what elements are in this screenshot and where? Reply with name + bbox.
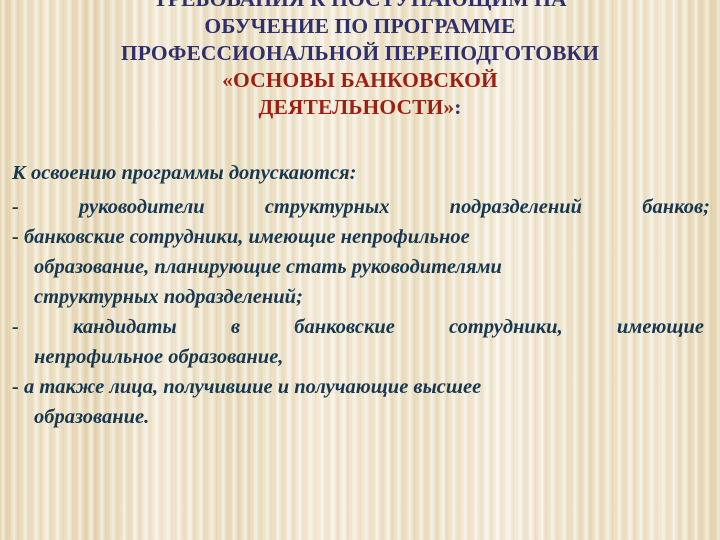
title-accent-line-2-row: ДЕЯТЕЛЬНОСТИ»: bbox=[0, 94, 720, 121]
body-item-2-line-2: образование, планирующие стать руководит… bbox=[12, 252, 710, 282]
body-item-1: - руководители структурных подразделений… bbox=[12, 192, 710, 222]
body-item-2-line-1: - банковские сотрудники, имеющие непрофи… bbox=[12, 226, 470, 248]
slide: ТРЕБОВАНИЯ К ПОСТУПАЮЩИМ НА ОБУЧЕНИЕ ПО … bbox=[0, 0, 720, 540]
slide-title: ТРЕБОВАНИЯ К ПОСТУПАЮЩИМ НА ОБУЧЕНИЕ ПО … bbox=[0, 0, 720, 121]
body-item-3-w2: в bbox=[231, 312, 240, 342]
body-item-1-row: - руководители структурных подразделений… bbox=[12, 192, 710, 222]
body-item-3-w5: имеющие bbox=[617, 312, 704, 342]
title-line-1: ТРЕБОВАНИЯ К ПОСТУПАЮЩИМ НА bbox=[0, 0, 720, 13]
body-item-2-line-3: структурных подразделений; bbox=[12, 282, 710, 312]
body-item-3: - кандидаты в банковские сотрудники, име… bbox=[12, 312, 710, 372]
body-item-4-line-1: - а также лица, получившие и получающие … bbox=[12, 376, 481, 398]
title-accent-line-2: ДЕЯТЕЛЬНОСТИ» bbox=[259, 95, 455, 119]
body-item-2: - банковские сотрудники, имеющие непрофи… bbox=[12, 222, 710, 312]
body-item-3-w1: кандидаты bbox=[73, 312, 177, 342]
body-item-1-dash: - bbox=[12, 192, 19, 222]
title-accent-line-1: «ОСНОВЫ БАНКОВСКОЙ bbox=[0, 67, 720, 94]
body-item-1-w4: банков; bbox=[642, 192, 710, 222]
title-line-3: ПРОФЕССИОНАЛЬНОЙ ПЕРЕПОДГОТОВКИ bbox=[0, 40, 720, 67]
body-item-4: - а также лица, получившие и получающие … bbox=[12, 372, 710, 432]
body-item-1-w1: руководители bbox=[79, 192, 205, 222]
body-item-1-w2: структурных bbox=[265, 192, 390, 222]
slide-body: К освоению программы допускаются: - руко… bbox=[0, 158, 720, 432]
body-item-3-row: - кандидаты в банковские сотрудники, име… bbox=[12, 312, 710, 342]
body-item-4-line-2: образование. bbox=[12, 402, 710, 432]
body-item-3-line-2: непрофильное образование, bbox=[12, 342, 710, 372]
body-item-1-w3: подразделений bbox=[450, 192, 582, 222]
body-item-3-dash: - bbox=[12, 312, 19, 342]
body-lead: К освоению программы допускаются: bbox=[12, 158, 710, 188]
title-colon: : bbox=[454, 95, 461, 119]
title-line-2: ОБУЧЕНИЕ ПО ПРОГРАММЕ bbox=[0, 13, 720, 40]
body-item-3-w4: сотрудники, bbox=[449, 312, 563, 342]
body-item-3-w3: банковские bbox=[294, 312, 395, 342]
